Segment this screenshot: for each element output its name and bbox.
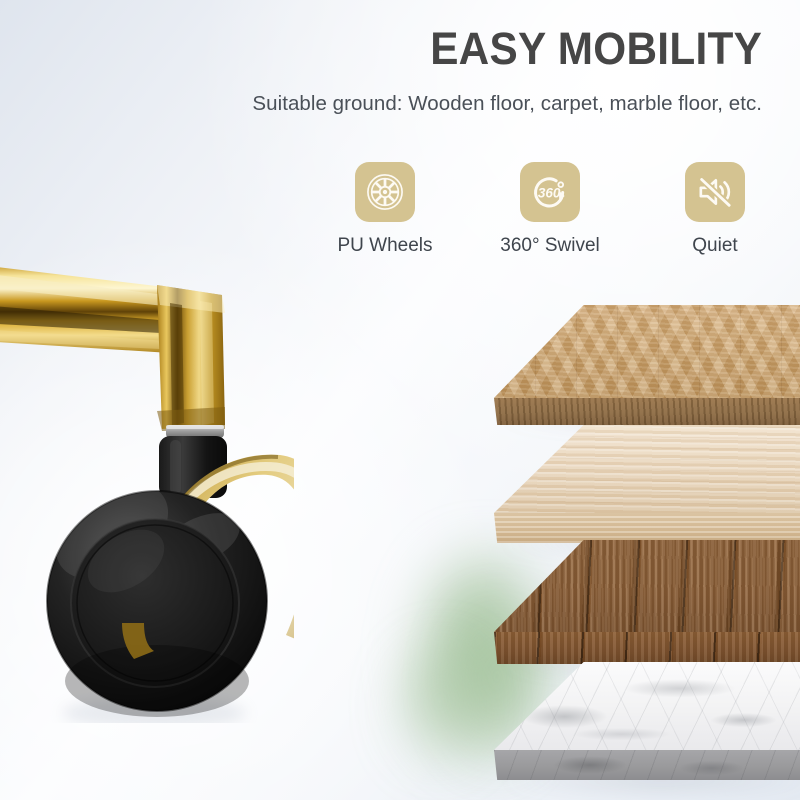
slab-top-face [494,425,800,513]
caster-wheel-assembly [0,243,294,723]
slab-front-edge [494,398,800,425]
floor-sample-light-oak [494,425,800,543]
slab-top-face [494,662,800,750]
speaker-muted-icon-tile [685,162,745,222]
feature-list: PU Wheels 360 360° Swivel [310,162,790,257]
page-title: EASY MOBILITY [430,23,762,75]
feature-label: PU Wheels [337,235,432,257]
page-subtitle: Suitable ground: Wooden floor, carpet, m… [252,92,762,116]
feature-item-360-swivel: 360 360° Swivel [475,162,625,257]
floor-sample-dark-walnut [494,540,800,664]
wheel-icon [365,172,405,212]
speaker-muted-icon [695,172,735,212]
wheel-icon-tile [355,162,415,222]
slab-top-face [494,305,800,398]
svg-text:360: 360 [538,185,561,200]
feature-label: 360° Swivel [500,235,599,257]
floor-sample-white-marble [494,662,800,780]
background-plant-blur [398,648,486,768]
slab-front-edge [494,632,800,664]
feature-item-quiet: Quiet [640,162,790,257]
caster-wheel-svg [0,243,294,723]
rotate-360-icon-tile: 360 [520,162,580,222]
gold-leg-foot-block [157,285,225,431]
floor-sample-herringbone-parquet [494,305,800,425]
slab-front-edge [494,750,800,780]
rotate-360-icon: 360 [529,171,571,213]
feature-item-pu-wheels: PU Wheels [310,162,460,257]
product-feature-banner: EASY MOBILITY Suitable ground: Wooden fl… [0,0,800,800]
feature-label: Quiet [692,235,737,257]
slab-top-face [494,540,800,632]
slab-front-edge [494,513,800,543]
caster-wheel [38,463,267,717]
